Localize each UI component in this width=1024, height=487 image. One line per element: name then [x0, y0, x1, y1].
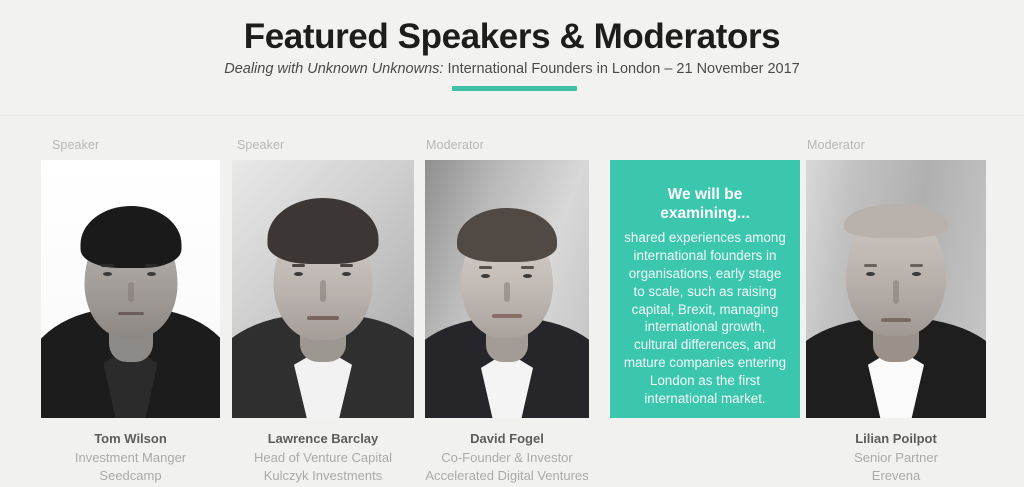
speaker-company: Seedcamp [41, 467, 220, 485]
speaker-title: Head of Venture Capital [232, 449, 414, 467]
speaker-company: Kulczyk Investments [232, 467, 414, 485]
speaker-caption: David Fogel Co-Founder & Investor Accele… [397, 430, 617, 486]
speaker-name: David Fogel [397, 430, 617, 449]
speaker-caption: Tom Wilson Investment Manger Seedcamp [41, 430, 220, 486]
role-label: Moderator [807, 138, 865, 152]
accent-underline-bar [452, 86, 577, 91]
page-title: Featured Speakers & Moderators [0, 0, 1024, 56]
speaker-company: Erevena [806, 467, 986, 485]
portrait-illustration [425, 160, 589, 418]
speaker-company: Accelerated Digital Ventures [397, 467, 617, 485]
panel-body: shared experiences among international f… [622, 229, 788, 407]
slide-root: Featured Speakers & Moderators Dealing w… [0, 0, 1024, 487]
speaker-name: Lawrence Barclay [232, 430, 414, 449]
speaker-name: Tom Wilson [41, 430, 220, 449]
subtitle-emphasis: Dealing with Unknown Unknowns: [224, 61, 443, 77]
speaker-caption: Lawrence Barclay Head of Venture Capital… [232, 430, 414, 486]
portrait-illustration [232, 160, 414, 418]
speaker-photo [425, 160, 589, 418]
speakers-row: Speaker Tom Wilson [0, 116, 1024, 487]
role-label: Speaker [237, 138, 284, 152]
speaker-photo [806, 160, 986, 418]
speaker-caption: Lilian Poilpot Senior Partner Erevena [806, 430, 986, 486]
slide-header: Featured Speakers & Moderators Dealing w… [0, 0, 1024, 116]
role-label: Speaker [52, 138, 99, 152]
role-label: Moderator [426, 138, 484, 152]
subtitle-rest: International Founders in London – 21 No… [443, 61, 799, 77]
examining-panel: We will be examining... shared experienc… [610, 160, 800, 418]
speaker-title: Investment Manger [41, 449, 220, 467]
speaker-title: Co-Founder & Investor [397, 449, 617, 467]
portrait-illustration [41, 160, 220, 418]
portrait-illustration [806, 160, 986, 418]
speaker-title: Senior Partner [806, 449, 986, 467]
speaker-photo [232, 160, 414, 418]
page-subtitle: Dealing with Unknown Unknowns: Internati… [0, 60, 1024, 78]
speaker-name: Lilian Poilpot [806, 430, 986, 449]
panel-heading: We will be examining... [622, 176, 788, 223]
speaker-photo [41, 160, 220, 418]
